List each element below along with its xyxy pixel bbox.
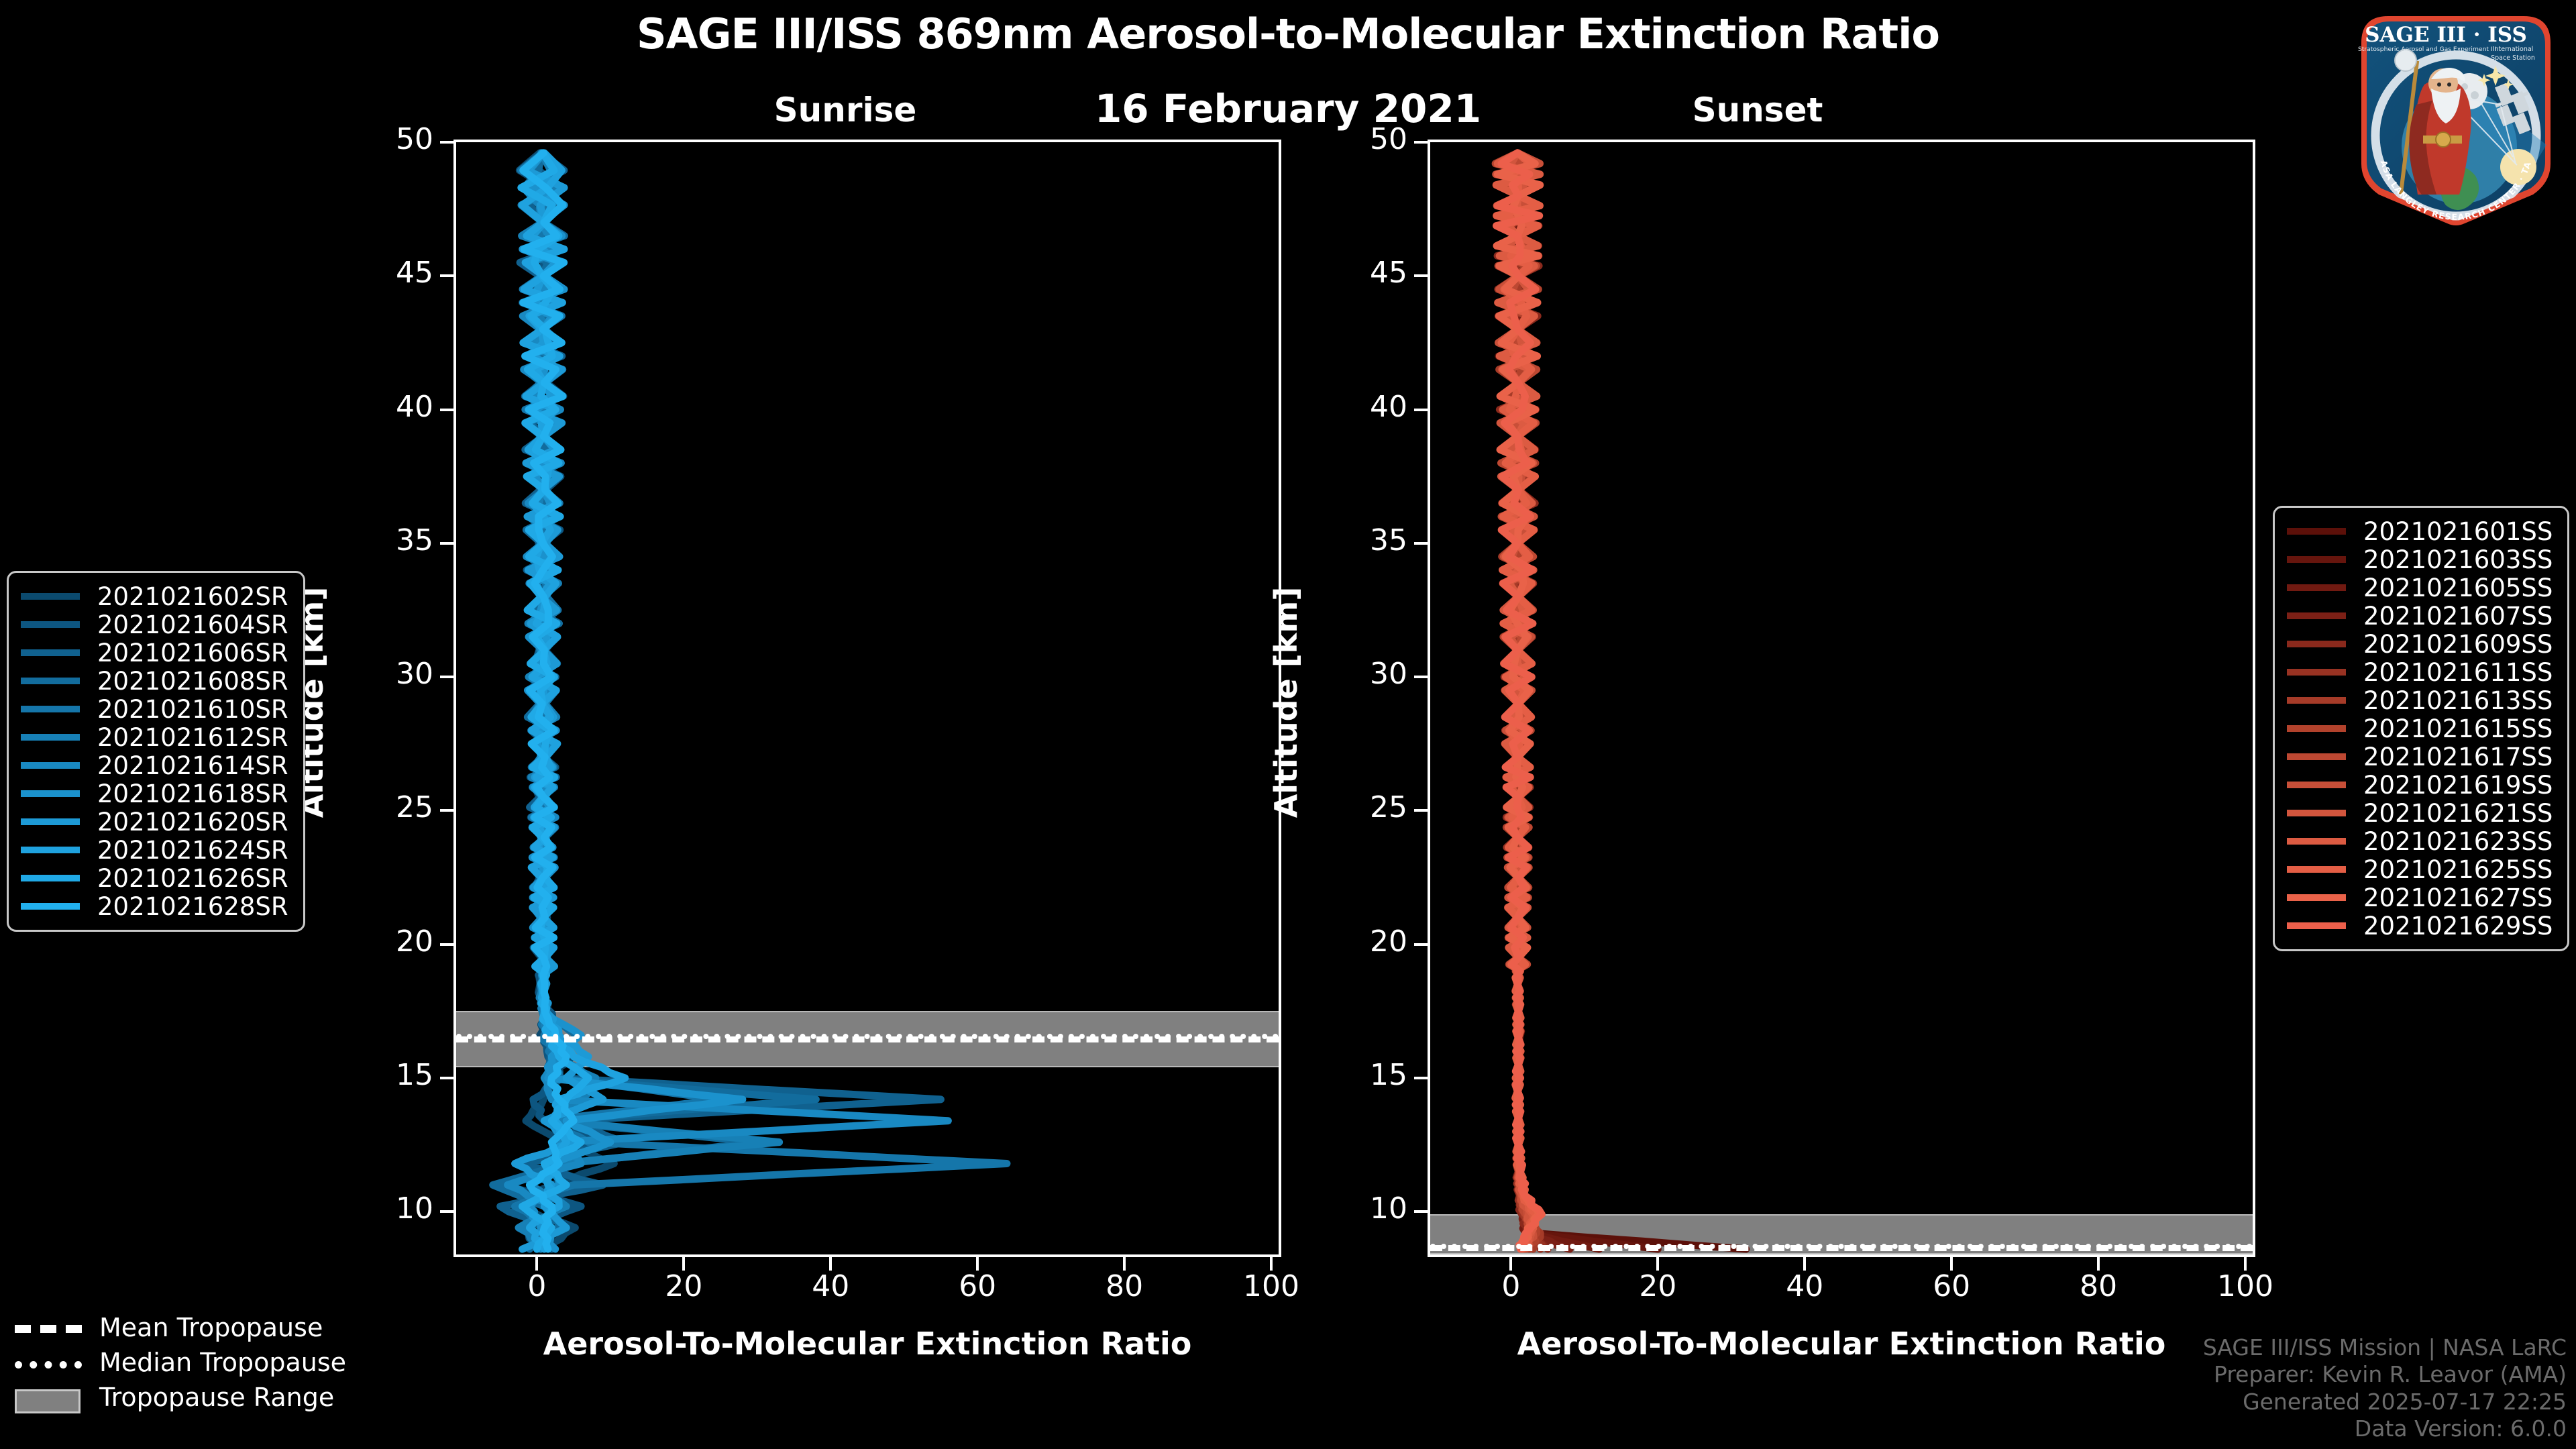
legend-color-swatch <box>21 847 80 853</box>
sunrise-panel-title: Sunrise <box>644 91 1046 129</box>
sunset-plot-area <box>1428 140 2255 1257</box>
legend-color-swatch <box>2287 922 2346 929</box>
y-tick-label: 25 <box>360 790 433 824</box>
legend-item-label: 2021021614SR <box>97 751 288 780</box>
y-tick-mark <box>1414 943 1428 946</box>
sage-iii-iss-mission-patch-logo: BALL · NASA LANGLEY RESEARCH CENTER · TA… <box>2345 4 2567 225</box>
y-tick-mark <box>440 274 453 277</box>
legend-color-swatch <box>2287 838 2346 845</box>
credits-line-generated: Generated 2025-07-17 22:25 <box>2203 1389 2567 1415</box>
x-tick-mark <box>1950 1257 1953 1271</box>
legend-item-label: 2021021606SR <box>97 639 288 667</box>
legend-item[interactable]: 2021021624SR <box>21 836 288 864</box>
legend-color-swatch <box>2287 584 2346 591</box>
mean-tropopause-label: Mean Tropopause <box>99 1313 323 1342</box>
legend-item-mean-tropopause: Mean Tropopause <box>15 1310 346 1345</box>
patch-title: SAGE III · ISS <box>2365 23 2527 47</box>
legend-item-label: 2021021611SS <box>2363 658 2553 687</box>
median-tropopause-label: Median Tropopause <box>99 1348 346 1377</box>
x-tick-mark <box>1123 1257 1126 1271</box>
legend-item-label: 2021021608SR <box>97 667 288 696</box>
legend-color-swatch <box>21 790 80 797</box>
legend-item-label: 2021021617SS <box>2363 743 2553 771</box>
y-tick-label: 30 <box>1334 657 1407 691</box>
y-tick-label: 40 <box>1334 390 1407 424</box>
y-tick-label: 25 <box>1334 790 1407 824</box>
legend-color-swatch <box>2287 528 2346 535</box>
legend-item-label: 2021021607SS <box>2363 602 2553 631</box>
y-tick-label: 45 <box>360 256 433 290</box>
x-tick-mark <box>976 1257 979 1271</box>
legend-item[interactable]: 2021021602SR <box>21 582 288 610</box>
y-tick-mark <box>440 809 453 812</box>
legend-color-swatch <box>21 678 80 684</box>
dotted-line-icon <box>15 1355 82 1370</box>
credits-block: SAGE III/ISS Mission | NASA LaRC Prepare… <box>2203 1334 2567 1442</box>
legend-color-swatch <box>2287 753 2346 760</box>
legend-item[interactable]: 2021021607SS <box>2287 602 2553 630</box>
sunset-y-axis-title: Altitude [km] <box>1268 568 1304 837</box>
legend-item[interactable]: 2021021601SS <box>2287 517 2553 545</box>
y-tick-mark <box>440 1077 453 1079</box>
sunset-legend[interactable]: 2021021601SS2021021603SS2021021605SS2021… <box>2273 506 2569 951</box>
y-tick-mark <box>440 409 453 411</box>
x-tick-mark <box>1270 1257 1273 1271</box>
y-tick-mark <box>1414 542 1428 545</box>
credits-line-preparer: Preparer: Kevin R. Leavor (AMA) <box>2203 1361 2567 1388</box>
legend-color-swatch <box>21 903 80 910</box>
legend-item[interactable]: 2021021625SS <box>2287 855 2553 883</box>
legend-color-swatch <box>2287 612 2346 619</box>
median-tropopause-line <box>1430 1244 2253 1249</box>
patch-subtitle-right-2: Space Station <box>2491 54 2535 62</box>
legend-item[interactable]: 2021021612SR <box>21 723 288 751</box>
legend-color-swatch <box>2287 866 2346 873</box>
y-tick-mark <box>1414 1210 1428 1213</box>
y-tick-mark <box>1414 141 1428 144</box>
y-tick-mark <box>440 676 453 678</box>
legend-item-label: 2021021629SS <box>2363 912 2553 941</box>
legend-item-label: 2021021619SS <box>2363 771 2553 800</box>
legend-item-median-tropopause: Median Tropopause <box>15 1345 346 1380</box>
legend-item-label: 2021021603SS <box>2363 545 2553 574</box>
y-tick-label: 20 <box>1334 924 1407 959</box>
credits-line-data-version: Data Version: 6.0.0 <box>2203 1415 2567 1442</box>
y-tick-label: 50 <box>360 122 433 156</box>
legend-color-swatch <box>21 621 80 628</box>
legend-item-label: 2021021625SS <box>2363 855 2553 884</box>
x-tick-mark <box>829 1257 832 1271</box>
legend-item-tropopause-range: Tropopause Range <box>15 1380 346 1415</box>
x-tick-mark <box>535 1257 538 1271</box>
dashed-line-icon <box>15 1320 82 1335</box>
y-tick-label: 15 <box>360 1058 433 1092</box>
legend-item-label: 2021021604SR <box>97 610 288 639</box>
y-tick-label: 45 <box>1334 256 1407 290</box>
y-tick-mark <box>1414 274 1428 277</box>
y-tick-label: 50 <box>1334 122 1407 156</box>
legend-item[interactable]: 2021021610SR <box>21 695 288 723</box>
x-tick-mark <box>2244 1257 2247 1271</box>
x-tick-mark <box>2097 1257 2100 1271</box>
legend-item[interactable]: 2021021617SS <box>2287 743 2553 771</box>
legend-color-swatch <box>21 649 80 656</box>
y-tick-label: 40 <box>360 390 433 424</box>
legend-item[interactable]: 2021021627SS <box>2287 883 2553 912</box>
legend-color-swatch <box>2287 697 2346 704</box>
y-tick-mark <box>1414 409 1428 411</box>
legend-item[interactable]: 2021021611SS <box>2287 658 2553 686</box>
legend-item[interactable]: 2021021608SR <box>21 667 288 695</box>
trace-group <box>456 142 1279 1254</box>
legend-item-label: 2021021626SR <box>97 864 288 893</box>
legend-color-swatch <box>2287 810 2346 816</box>
sunset-x-axis-title: Aerosol-To-Molecular Extinction Ratio <box>1428 1326 2255 1362</box>
filled-band-icon <box>15 1390 82 1405</box>
x-tick-mark <box>1509 1257 1512 1271</box>
legend-color-swatch <box>21 818 80 825</box>
patch-subtitle-right-1: International <box>2493 46 2534 53</box>
legend-item-label: 2021021615SS <box>2363 714 2553 743</box>
legend-item-label: 2021021610SR <box>97 695 288 724</box>
sunrise-x-axis-title: Aerosol-To-Molecular Extinction Ratio <box>453 1326 1281 1362</box>
legend-item[interactable]: 2021021604SR <box>21 610 288 639</box>
legend-item[interactable]: 2021021603SS <box>2287 545 2553 574</box>
x-tick-label: 60 <box>930 1269 1024 1303</box>
legend-item[interactable]: 2021021613SS <box>2287 686 2553 714</box>
x-tick-mark <box>1656 1257 1659 1271</box>
legend-color-swatch <box>2287 641 2346 647</box>
legend-item[interactable]: 2021021623SS <box>2287 827 2553 855</box>
legend-color-swatch <box>2287 894 2346 901</box>
sunrise-legend[interactable]: 2021021602SR2021021604SR2021021606SR2021… <box>7 571 305 932</box>
legend-color-swatch <box>2287 669 2346 676</box>
legend-item-label: 2021021609SS <box>2363 630 2553 659</box>
legend-item[interactable]: 2021021629SS <box>2287 912 2553 940</box>
legend-item[interactable]: 2021021628SR <box>21 892 288 920</box>
legend-item-label: 2021021612SR <box>97 723 288 752</box>
x-tick-mark <box>682 1257 685 1271</box>
y-tick-mark <box>440 1210 453 1213</box>
legend-item[interactable]: 2021021614SR <box>21 751 288 780</box>
sunset-panel-title: Sunset <box>1556 91 1959 129</box>
y-tick-label: 35 <box>360 523 433 557</box>
legend-item-label: 2021021613SS <box>2363 686 2553 715</box>
legend-color-swatch <box>2287 725 2346 732</box>
legend-item[interactable]: 2021021609SS <box>2287 630 2553 658</box>
median-tropopause-line <box>456 1034 1279 1039</box>
trace-group <box>1430 142 2253 1254</box>
legend-color-swatch <box>21 875 80 881</box>
tropopause-range-label: Tropopause Range <box>99 1383 334 1412</box>
legend-item-label: 2021021602SR <box>97 582 288 611</box>
x-tick-label: 40 <box>1758 1269 1851 1303</box>
legend-item-label: 2021021618SR <box>97 780 288 808</box>
x-tick-label: 80 <box>2051 1269 2145 1303</box>
legend-item-label: 2021021605SS <box>2363 574 2553 602</box>
legend-item-label: 2021021627SS <box>2363 883 2553 912</box>
y-tick-mark <box>1414 809 1428 812</box>
legend-item[interactable]: 2021021606SR <box>21 639 288 667</box>
legend-item[interactable]: 2021021618SR <box>21 780 288 808</box>
x-tick-label: 20 <box>1611 1269 1705 1303</box>
x-tick-label: 40 <box>784 1269 877 1303</box>
legend-item-label: 2021021628SR <box>97 892 288 921</box>
trace-line <box>500 153 941 1249</box>
y-tick-label: 35 <box>1334 523 1407 557</box>
legend-color-swatch <box>21 593 80 600</box>
x-tick-label: 60 <box>1904 1269 1998 1303</box>
figure-title: SAGE III/ISS 869nm Aerosol-to-Molecular … <box>0 9 2576 58</box>
x-tick-mark <box>1803 1257 1806 1271</box>
legend-item-label: 2021021601SS <box>2363 517 2553 546</box>
x-tick-label: 100 <box>2198 1269 2292 1303</box>
legend-item-label: 2021021620SR <box>97 808 288 837</box>
x-tick-label: 0 <box>1464 1269 1558 1303</box>
legend-item[interactable]: 2021021615SS <box>2287 714 2553 743</box>
credits-line-mission: SAGE III/ISS Mission | NASA LaRC <box>2203 1334 2567 1361</box>
legend-color-swatch <box>21 762 80 769</box>
y-tick-label: 30 <box>360 657 433 691</box>
x-tick-label: 100 <box>1224 1269 1318 1303</box>
x-tick-label: 80 <box>1077 1269 1171 1303</box>
y-tick-mark <box>440 141 453 144</box>
y-tick-mark <box>1414 1077 1428 1079</box>
patch-subtitle-left: Stratospheric Aerosol and Gas Experiment… <box>2358 46 2496 53</box>
y-tick-mark <box>440 943 453 946</box>
legend-item-label: 2021021624SR <box>97 836 288 865</box>
y-tick-label: 15 <box>1334 1058 1407 1092</box>
legend-item[interactable]: 2021021626SR <box>21 864 288 892</box>
legend-color-swatch <box>2287 782 2346 788</box>
y-tick-mark <box>440 542 453 545</box>
legend-color-swatch <box>21 734 80 741</box>
y-tick-mark <box>1414 676 1428 678</box>
legend-item[interactable]: 2021021605SS <box>2287 574 2553 602</box>
x-tick-label: 0 <box>490 1269 584 1303</box>
sunrise-plot-area <box>453 140 1281 1257</box>
y-tick-label: 10 <box>360 1191 433 1226</box>
legend-color-swatch <box>2287 556 2346 563</box>
y-tick-label: 20 <box>360 924 433 959</box>
legend-item-label: 2021021621SS <box>2363 799 2553 828</box>
legend-item-label: 2021021623SS <box>2363 827 2553 856</box>
x-tick-label: 20 <box>637 1269 731 1303</box>
legend-item[interactable]: 2021021621SS <box>2287 799 2553 827</box>
legend-color-swatch <box>21 706 80 712</box>
legend-item[interactable]: 2021021619SS <box>2287 771 2553 799</box>
figure-root: SAGE III/ISS 869nm Aerosol-to-Molecular … <box>0 0 2576 1449</box>
y-tick-label: 10 <box>1334 1191 1407 1226</box>
tropopause-legend: Mean Tropopause Median Tropopause Tropop… <box>15 1310 346 1415</box>
legend-item[interactable]: 2021021620SR <box>21 808 288 836</box>
